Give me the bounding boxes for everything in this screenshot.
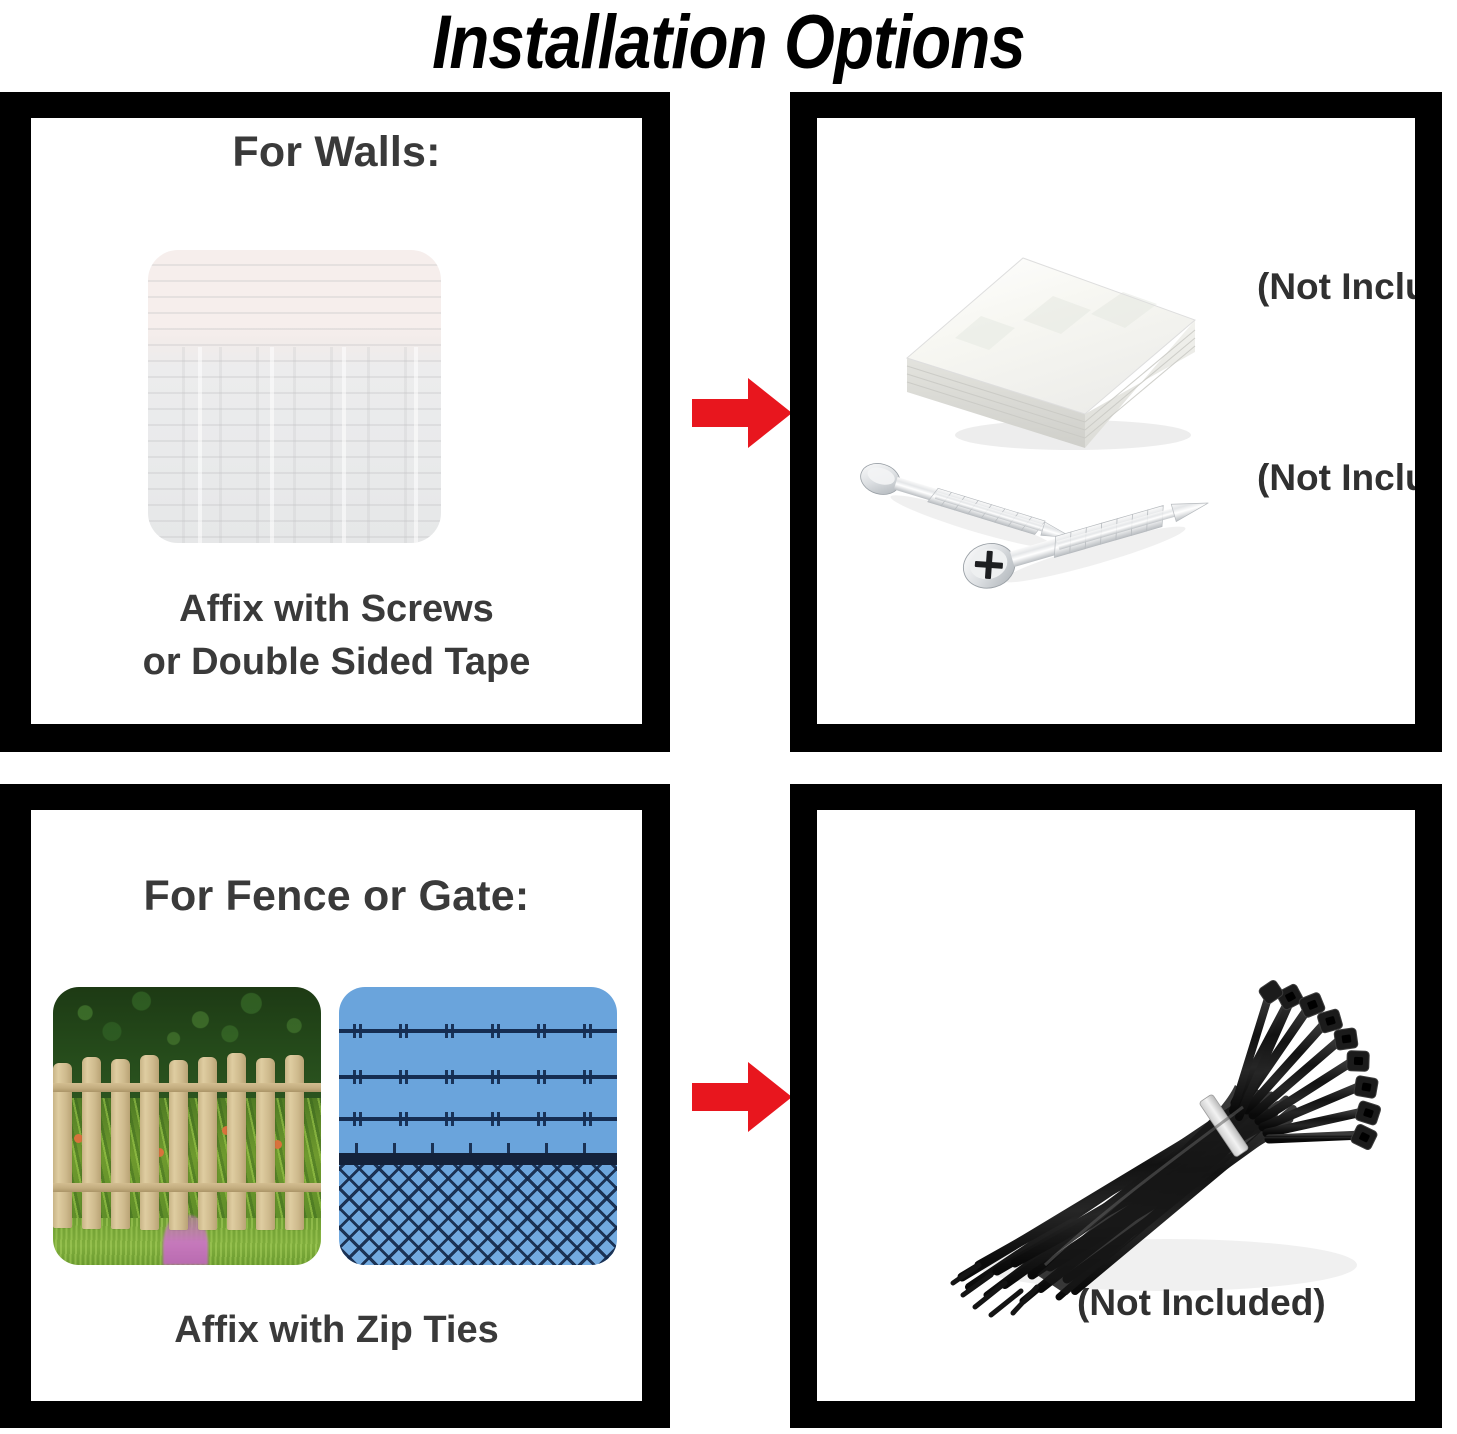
fence-rail-upper — [53, 1083, 321, 1092]
for-walls-caption-line-1: Affix with Screws — [31, 584, 642, 634]
fence-rail-lower — [53, 1183, 321, 1192]
for-fence-heading: For Fence or Gate: — [31, 872, 642, 921]
chain-link-top-rail — [339, 1153, 617, 1165]
panel-for-walls: For Walls: Affix with Screws or Double S… — [0, 92, 670, 752]
zip-ties-not-included-label: (Not Included) — [1077, 1282, 1326, 1324]
wooden-picket-fence-photo — [53, 987, 321, 1265]
tape-not-included-label: (Not Included) — [1257, 266, 1415, 308]
barbed-wire-strand — [339, 1117, 617, 1121]
wood-screws — [857, 448, 1257, 663]
barbed-wire-strand — [339, 1075, 617, 1079]
panel-for-walls-content: For Walls: Affix with Screws or Double S… — [31, 118, 642, 724]
fence-picket — [140, 1055, 159, 1230]
chain-link-mesh — [339, 1165, 617, 1265]
panel-wall-hardware: (Not Included) — [790, 92, 1442, 752]
page-title: Installation Options — [102, 0, 1355, 88]
panel-for-fence-content: For Fence or Gate: — [31, 810, 642, 1401]
screws-not-included-label: (Not Included) — [1257, 457, 1415, 499]
red-right-arrow-icon — [692, 1060, 792, 1134]
chain-link-barbed-wire-fence-photo — [339, 987, 617, 1265]
double-sided-tape-stack — [895, 242, 1225, 458]
fence-picket — [227, 1053, 246, 1230]
for-walls-caption-line-2: or Double Sided Tape — [31, 637, 642, 687]
panel-zip-ties: (Not Included) — [790, 784, 1442, 1428]
brick-highlight-lines — [148, 347, 441, 543]
panel-for-fence-or-gate: For Fence or Gate: — [0, 784, 670, 1428]
white-brick-wall-photo — [148, 250, 441, 543]
black-zip-ties-bundle — [917, 935, 1387, 1335]
panel-zip-ties-content: (Not Included) — [817, 810, 1415, 1401]
for-fence-caption: Affix with Zip Ties — [31, 1305, 642, 1355]
barbed-wire-strand — [339, 1029, 617, 1033]
panel-wall-hardware-content: (Not Included) — [817, 118, 1415, 724]
red-right-arrow-icon — [692, 376, 792, 450]
fence-picket — [285, 1055, 304, 1230]
for-walls-heading: For Walls: — [31, 128, 642, 177]
